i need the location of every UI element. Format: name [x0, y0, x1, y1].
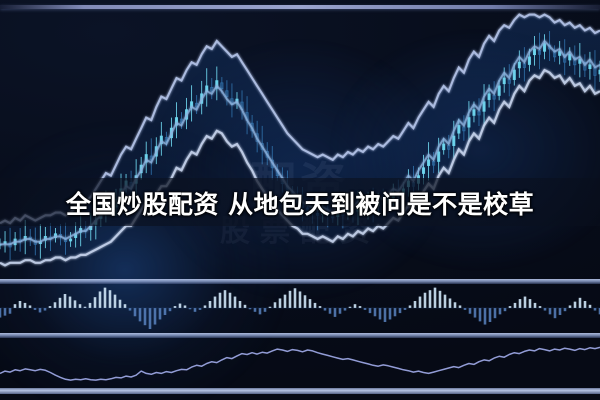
top-rule-divider: [0, 5, 600, 9]
stock-chart-banner: 配资 股票配资 全国炒股配资 从地包天到被问是不是校草: [0, 0, 600, 400]
headline-text: 全国炒股配资 从地包天到被问是不是校草: [0, 183, 600, 223]
macd-histogram: [0, 288, 600, 329]
price-macd-divider: [0, 279, 600, 284]
macd-oscillator-divider: [0, 333, 600, 338]
oscillator-line: [0, 347, 600, 380]
bottom-divider: [0, 388, 600, 394]
